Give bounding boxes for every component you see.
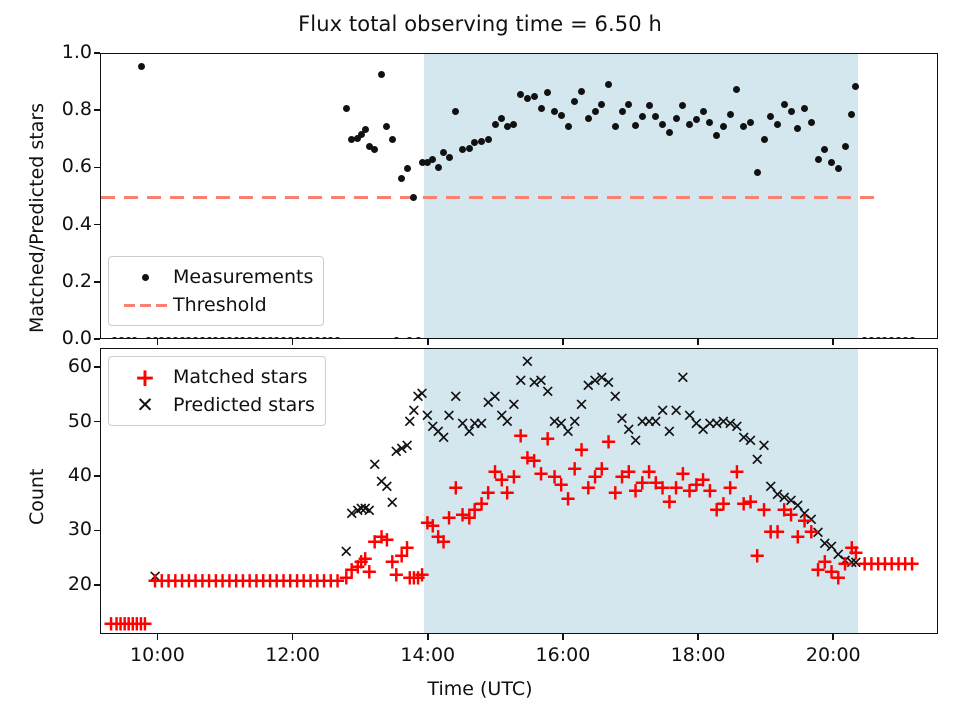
matched-star-point: + xyxy=(728,461,746,482)
matched-star-point: + xyxy=(748,546,766,567)
predicted-star-point: ✕ xyxy=(655,403,669,420)
y-tick-label: 60 xyxy=(68,355,92,377)
y-tick-mark xyxy=(94,366,100,368)
data-point xyxy=(842,143,849,150)
data-point xyxy=(835,165,842,172)
data-point xyxy=(517,91,524,98)
data-point xyxy=(646,102,653,109)
data-point xyxy=(307,337,314,340)
y-tick-label: 0.6 xyxy=(62,155,92,177)
x-tick-mark-bottom xyxy=(292,634,294,640)
data-point xyxy=(246,337,253,340)
x-tick-mark-top xyxy=(157,339,159,345)
matched-star-point: + xyxy=(505,467,523,488)
y-tick-label: 0.4 xyxy=(62,213,92,235)
matched-star-point: + xyxy=(755,499,773,520)
predicted-star-point: ✕ xyxy=(449,390,463,407)
data-point xyxy=(551,108,558,115)
figure-title: Flux total observing time = 6.50 h xyxy=(0,12,960,36)
data-point xyxy=(253,337,260,340)
data-point xyxy=(343,105,350,112)
predicted-star-point: ✕ xyxy=(662,425,676,442)
data-point xyxy=(881,337,888,340)
data-point xyxy=(158,337,165,340)
x-axis-label: Time (UTC) xyxy=(0,678,960,700)
predicted-star-point: ✕ xyxy=(488,390,502,407)
data-point xyxy=(625,101,632,108)
data-point xyxy=(781,101,788,108)
data-point xyxy=(466,145,473,152)
y-tick-label: 20 xyxy=(68,573,92,595)
data-point xyxy=(111,337,118,340)
y-axis-label-top: Matched/Predicted stars xyxy=(26,103,48,333)
data-point xyxy=(219,337,226,340)
y-tick-mark xyxy=(94,475,100,477)
predicted-star-point: ✕ xyxy=(541,384,555,401)
y-tick-mark xyxy=(94,167,100,169)
predicted-star-point: ✕ xyxy=(608,390,622,407)
data-point xyxy=(868,337,875,340)
data-point xyxy=(446,154,453,161)
legend-item-predicted-stars[interactable]: ✕ Predicted stars xyxy=(117,391,315,419)
data-point xyxy=(902,337,909,340)
matched-star-point: + xyxy=(802,521,820,542)
data-point xyxy=(410,194,417,201)
predicted-star-point: ✕ xyxy=(520,354,534,371)
matched-star-point: + xyxy=(136,614,154,634)
x-tick-mark-top xyxy=(292,339,294,345)
y-tick-mark xyxy=(94,281,100,283)
legend-item-measurements[interactable]: Measurements xyxy=(117,263,313,291)
matched-star-point: + xyxy=(593,458,611,479)
legend-item-threshold[interactable]: Threshold xyxy=(117,291,313,319)
threshold-dash-icon xyxy=(117,304,173,307)
data-point xyxy=(406,337,413,340)
predicted-star-point: ✕ xyxy=(676,371,690,388)
data-point xyxy=(362,126,369,133)
data-point xyxy=(492,121,499,128)
y-tick-mark xyxy=(94,584,100,586)
data-point xyxy=(145,337,152,340)
predicted-star-point: ✕ xyxy=(628,433,642,450)
predicted-star-point: ✕ xyxy=(415,387,429,404)
data-point xyxy=(321,337,328,340)
data-point xyxy=(848,111,855,118)
data-point xyxy=(378,71,385,78)
predicted-star-point: ✕ xyxy=(442,409,456,426)
y-tick-mark xyxy=(94,224,100,226)
data-point xyxy=(371,146,378,153)
data-point xyxy=(673,115,680,122)
data-point xyxy=(125,337,132,340)
data-point xyxy=(192,337,199,340)
predicted-star-point: ✕ xyxy=(385,496,399,513)
data-point xyxy=(895,337,902,340)
data-point xyxy=(389,136,396,143)
data-point xyxy=(808,119,815,126)
x-tick-mark-bottom xyxy=(157,634,159,640)
y-tick-label: 0.2 xyxy=(62,270,92,292)
data-point xyxy=(592,108,599,115)
legend-bottom[interactable]: + Matched stars ✕ Predicted stars xyxy=(108,356,326,426)
data-point xyxy=(393,337,400,340)
y-tick-mark xyxy=(94,530,100,532)
plus-marker-icon: + xyxy=(117,365,173,390)
data-point xyxy=(598,101,605,108)
data-point xyxy=(565,123,572,130)
data-point xyxy=(558,112,565,119)
matched-star-point: + xyxy=(435,532,453,553)
data-point xyxy=(165,337,172,340)
data-point xyxy=(131,337,138,340)
y-tick-label: 1.0 xyxy=(62,41,92,63)
predicted-star-point: ✕ xyxy=(474,417,488,434)
y-tick-mark xyxy=(94,109,100,111)
legend-label-predicted: Predicted stars xyxy=(173,394,315,416)
data-point xyxy=(172,337,179,340)
data-point xyxy=(700,108,707,115)
matched-star-point: + xyxy=(539,428,557,449)
data-point xyxy=(578,88,585,95)
data-point xyxy=(478,138,485,145)
predicted-star-point: ✕ xyxy=(574,398,588,415)
x-tick-mark-bottom xyxy=(697,634,699,640)
x-tick-mark-top xyxy=(697,339,699,345)
data-point xyxy=(185,337,192,340)
data-point xyxy=(267,337,274,340)
data-point xyxy=(761,136,768,143)
data-point xyxy=(524,95,531,102)
matched-star-point: + xyxy=(447,477,465,498)
y-tick-label: 40 xyxy=(68,464,92,486)
data-point xyxy=(239,337,246,340)
data-point xyxy=(909,337,916,340)
data-point xyxy=(226,337,233,340)
matched-star-point: + xyxy=(573,439,591,460)
data-point xyxy=(585,115,592,122)
y-tick-label: 50 xyxy=(68,410,92,432)
data-point xyxy=(686,121,693,128)
data-point xyxy=(334,337,341,340)
predicted-star-point: ✕ xyxy=(568,414,582,431)
y-tick-mark xyxy=(94,338,100,340)
x-tick-mark-bottom xyxy=(832,634,834,640)
data-point xyxy=(260,337,267,340)
data-point xyxy=(538,105,545,112)
data-point xyxy=(199,337,206,340)
matched-star-point: + xyxy=(600,431,618,452)
x-tick-mark-top xyxy=(427,339,429,345)
y-tick-label: 30 xyxy=(68,518,92,540)
data-point xyxy=(754,169,761,176)
predicted-star-point: ✕ xyxy=(669,403,683,420)
x-tick-label: 20:00 xyxy=(802,644,864,666)
figure-canvas: Flux total observing time = 6.50 h 0.00.… xyxy=(0,0,960,720)
predicted-star-point: ✕ xyxy=(362,504,376,521)
x-tick-mark-top xyxy=(832,339,834,345)
predicted-star-point: ✕ xyxy=(400,439,414,456)
x-tick-label: 10:00 xyxy=(126,644,188,666)
data-point xyxy=(415,337,422,340)
data-point xyxy=(398,175,405,182)
threshold-line xyxy=(101,196,895,199)
data-point xyxy=(774,121,781,128)
data-point xyxy=(383,123,390,130)
data-point xyxy=(300,337,307,340)
data-point xyxy=(485,136,492,143)
data-point xyxy=(138,63,145,70)
data-point xyxy=(314,337,321,340)
data-point xyxy=(605,81,612,88)
matched-star-point: + xyxy=(903,554,921,575)
x-tick-label: 14:00 xyxy=(397,644,459,666)
x-tick-mark-bottom xyxy=(427,634,429,640)
x-tick-label: 12:00 xyxy=(262,644,324,666)
data-point xyxy=(404,165,411,172)
data-point xyxy=(280,337,287,340)
legend-item-matched-stars[interactable]: + Matched stars xyxy=(117,363,315,391)
data-point xyxy=(815,156,822,163)
data-point xyxy=(118,337,125,340)
y-tick-label: 0.8 xyxy=(62,98,92,120)
y-axis-label-bottom: Count xyxy=(26,469,48,525)
data-point xyxy=(294,337,301,340)
x-tick-label: 16:00 xyxy=(532,644,594,666)
matched-star-point: + xyxy=(512,426,530,447)
predicted-star-point: ✕ xyxy=(757,439,771,456)
data-point xyxy=(861,337,868,340)
data-point xyxy=(571,98,578,105)
matched-star-point: + xyxy=(413,565,431,586)
matched-star-point: + xyxy=(559,488,577,509)
predicted-star-point: ✕ xyxy=(436,430,450,447)
predicted-star-point: ✕ xyxy=(743,433,757,450)
measurements-dot-icon xyxy=(117,274,173,281)
legend-label-measurements: Measurements xyxy=(173,266,313,288)
data-point xyxy=(435,164,442,171)
data-point xyxy=(659,121,666,128)
data-point xyxy=(801,105,808,112)
matched-star-point: + xyxy=(398,537,416,558)
data-point xyxy=(888,337,895,340)
x-tick-mark-top xyxy=(562,339,564,345)
data-point xyxy=(452,108,459,115)
y-tick-mark xyxy=(94,52,100,54)
data-point xyxy=(212,337,219,340)
x-tick-mark-bottom xyxy=(562,634,564,640)
y-tick-label: 0.0 xyxy=(62,327,92,349)
data-point xyxy=(727,111,734,118)
y-tick-mark xyxy=(94,421,100,423)
data-point xyxy=(619,108,626,115)
data-point xyxy=(788,108,795,115)
predicted-star-point: ✕ xyxy=(507,398,521,415)
cross-marker-icon: ✕ xyxy=(117,395,173,416)
matched-star-point: + xyxy=(360,562,378,583)
data-point xyxy=(852,83,859,90)
legend-label-matched: Matched stars xyxy=(173,366,307,388)
x-tick-label: 18:00 xyxy=(667,644,729,666)
predicted-star-point: ✕ xyxy=(514,373,528,390)
data-point xyxy=(327,337,334,340)
legend-top[interactable]: Measurements Threshold xyxy=(108,256,324,326)
data-point xyxy=(273,337,280,340)
legend-label-threshold: Threshold xyxy=(173,294,267,316)
data-point xyxy=(510,121,517,128)
